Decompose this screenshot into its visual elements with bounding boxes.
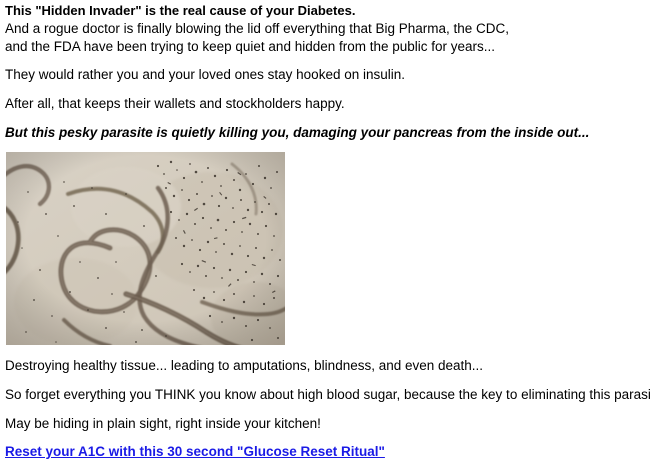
- email-body: This "Hidden Invader" is the real cause …: [0, 0, 650, 462]
- cta-link-glucose-reset-ritual[interactable]: Reset your A1C with this 30 second "Gluc…: [5, 444, 385, 459]
- paragraph-pesky-parasite: But this pesky parasite is quietly killi…: [5, 124, 589, 142]
- paragraph-insulin: They would rather you and your loved one…: [5, 66, 405, 84]
- paragraph-wallets: After all, that keeps their wallets and …: [5, 95, 345, 113]
- cta-row: Reset your A1C with this 30 second "Gluc…: [5, 443, 385, 461]
- paragraph-intro-line1: And a rogue doctor is finally blowing th…: [5, 20, 509, 38]
- paragraph-kitchen: May be hiding in plain sight, right insi…: [5, 415, 321, 433]
- paragraph-destroying: Destroying healthy tissue... leading to …: [5, 357, 483, 375]
- paragraph-intro-line2: and the FDA have been trying to keep qui…: [5, 38, 509, 56]
- paragraph-intro: And a rogue doctor is finally blowing th…: [5, 20, 509, 56]
- paragraph-forget: So forget everything you THINK you know …: [5, 386, 650, 404]
- page-headline: This "Hidden Invader" is the real cause …: [5, 2, 355, 19]
- microscope-parasite-photo: [6, 152, 285, 345]
